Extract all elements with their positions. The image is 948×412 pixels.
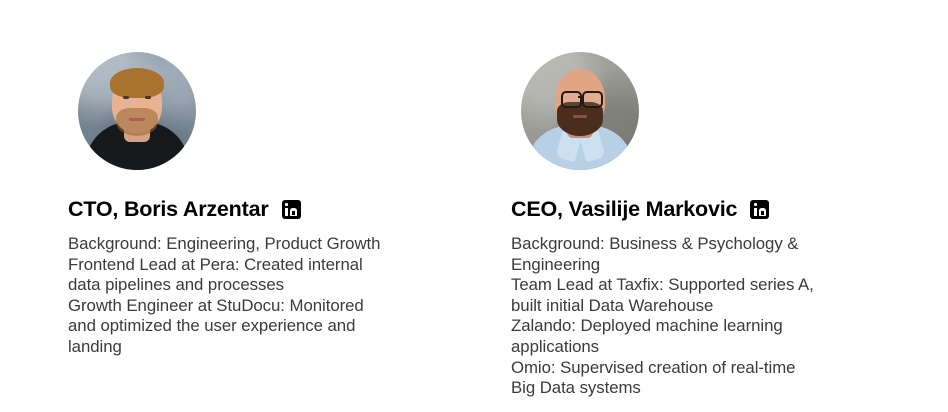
photo-eye-right <box>145 96 151 99</box>
member-bio: Background: Business & Psychology & Engi… <box>511 234 861 399</box>
photo-hair <box>110 68 164 98</box>
bio-line: Engineering <box>511 255 861 276</box>
bio-line: Zalando: Deployed machine learning <box>511 316 861 337</box>
linkedin-icon-stem <box>754 208 757 216</box>
linkedin-icon[interactable] <box>750 200 769 219</box>
avatar-vasilije-markovic <box>521 52 639 170</box>
linkedin-icon-dot <box>754 203 757 206</box>
bio-line: Frontend Lead at Pera: Created internal <box>68 255 418 276</box>
bio-line: Big Data systems <box>511 378 861 399</box>
bio-line: and optimized the user experience and <box>68 316 418 337</box>
linkedin-icon-n <box>290 208 297 216</box>
bio-line: Growth Engineer at StuDocu: Monitored <box>68 296 418 317</box>
bio-line: landing <box>68 337 418 358</box>
bio-line: Background: Engineering, Product Growth <box>68 234 418 255</box>
photo-glasses-right <box>582 91 603 108</box>
member-name-row: CTO, Boris Arzentar <box>68 196 301 222</box>
bio-line: data pipelines and processes <box>68 275 418 296</box>
portrait-photo <box>78 52 196 170</box>
bio-line: built initial Data Warehouse <box>511 296 861 317</box>
team-members-section: CTO, Boris Arzentar Background: Engineer… <box>0 0 948 412</box>
photo-mouth <box>129 118 145 121</box>
member-name-title: CTO, Boris Arzentar <box>68 196 269 222</box>
team-member-card-ceo: CEO, Vasilije Markovic Background: Busin… <box>511 0 931 412</box>
photo-eye-left <box>123 96 129 99</box>
bio-line: Background: Business & Psychology & <box>511 234 861 255</box>
photo-mouth <box>573 115 587 118</box>
linkedin-icon-n <box>759 208 766 216</box>
team-member-card-cto: CTO, Boris Arzentar Background: Engineer… <box>68 0 488 412</box>
member-name-title: CEO, Vasilije Markovic <box>511 196 737 222</box>
avatar-boris-arzentar <box>78 52 196 170</box>
linkedin-icon[interactable] <box>282 200 301 219</box>
bio-line: Team Lead at Taxfix: Supported series A, <box>511 275 861 296</box>
bio-line: applications <box>511 337 861 358</box>
member-name-row: CEO, Vasilije Markovic <box>511 196 769 222</box>
linkedin-icon-stem <box>285 208 288 216</box>
photo-beard <box>116 108 158 136</box>
linkedin-icon-dot <box>285 203 288 206</box>
photo-glasses-left <box>561 91 582 108</box>
photo-glasses-bridge <box>578 96 584 98</box>
portrait-photo <box>521 52 639 170</box>
member-bio: Background: Engineering, Product Growth … <box>68 234 418 358</box>
bio-line: Omio: Supervised creation of real-time <box>511 358 861 379</box>
